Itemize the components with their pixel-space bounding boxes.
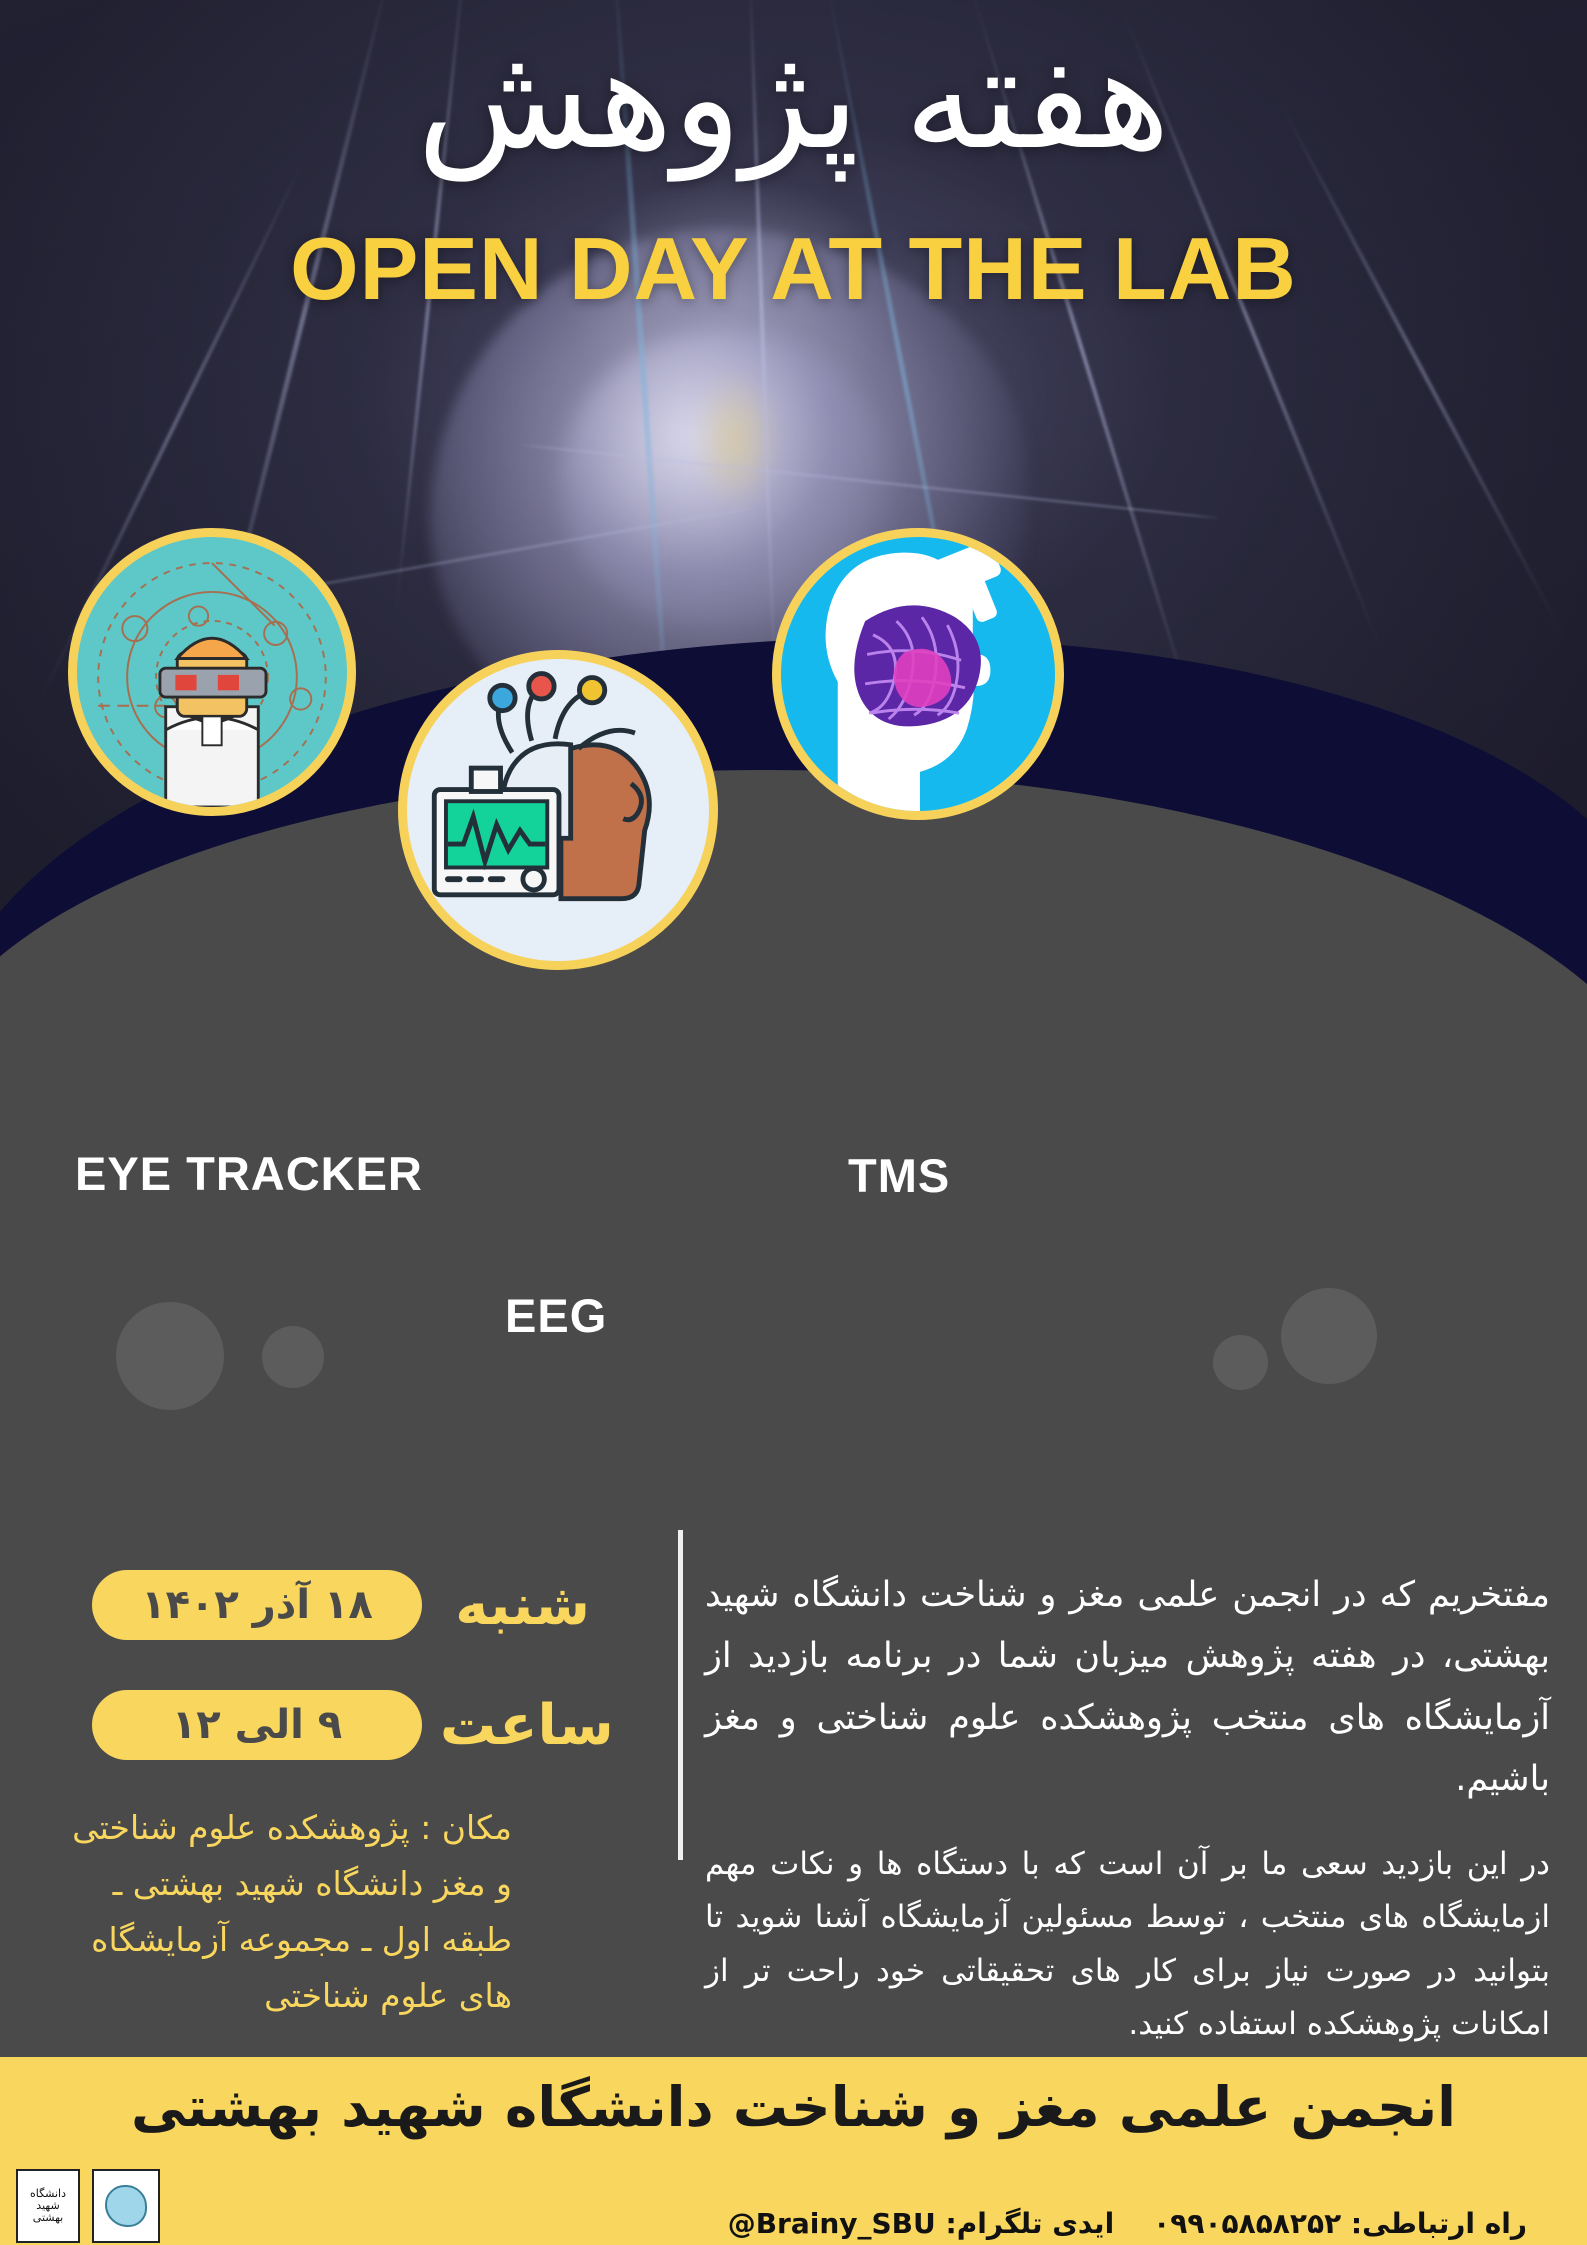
lab-circle-tms[interactable]	[772, 528, 1064, 820]
description-paragraph-2: در این بازدید سعی ما بر آن است که با دست…	[705, 1838, 1550, 2051]
location-text: مکان : پژوهشکده علوم شناختی و مغز دانشگا…	[60, 1800, 512, 2024]
date-row: شنبه ۱۸ آذر ۱۴۰۲	[92, 1570, 590, 1640]
brain-glyph-icon	[105, 2185, 147, 2227]
decorative-dot	[116, 1302, 224, 1410]
sbu-logo-text: دانشگاه شهید بهشتی	[30, 2188, 66, 2224]
decorative-dot	[1281, 1288, 1377, 1384]
lab-circle-eye-tracker[interactable]	[68, 528, 356, 816]
contact-line: راه ارتباطی: ۰۹۹۰۵۸۵۸۲۵۲ ایدی تلگرام: @B…	[728, 2207, 1527, 2240]
lab-label-eeg: EEG	[505, 1288, 607, 1343]
time-row: ساعت ۹ الی ۱۲	[92, 1690, 614, 1760]
decorative-dot	[262, 1326, 324, 1388]
telegram-label: ایدی تلگرام:	[946, 2207, 1115, 2240]
organization-name: انجمن علمی مغز و شناخت دانشگاه شهید بهشت…	[0, 2075, 1587, 2139]
sbu-logo: دانشگاه شهید بهشتی	[16, 2169, 80, 2243]
telegram-handle[interactable]: @Brainy_SBU	[728, 2207, 936, 2240]
footer-banner: انجمن علمی مغز و شناخت دانشگاه شهید بهشت…	[0, 2057, 1587, 2245]
time-pill: ۹ الی ۱۲	[92, 1690, 422, 1760]
day-label: شنبه	[440, 1573, 590, 1638]
description-paragraph-1: مفتخریم که در انجمن علمی مغز و شناخت دان…	[705, 1565, 1550, 1810]
decorative-dot	[1213, 1335, 1268, 1390]
eye-tracker-icon	[77, 537, 347, 807]
contact-label: راه ارتباطی:	[1351, 2207, 1527, 2240]
date-pill: ۱۸ آذر ۱۴۰۲	[92, 1570, 422, 1640]
tms-icon	[781, 537, 1055, 811]
lab-label-eye-tracker: EYE TRACKER	[75, 1146, 423, 1201]
lab-label-tms: TMS	[848, 1148, 950, 1203]
contact-phone: ۰۹۹۰۵۸۵۸۲۵۲	[1153, 2207, 1341, 2240]
page-title-fa: هفته پژوهش	[0, 24, 1587, 173]
page-title-en: OPEN DAY AT THE LAB	[0, 218, 1587, 320]
poster-root: هفته پژوهش OPEN DAY AT THE LAB	[0, 0, 1587, 2245]
time-label: ساعت	[440, 1693, 614, 1758]
vertical-divider	[678, 1530, 683, 1860]
lab-circle-eeg[interactable]	[398, 650, 718, 970]
eeg-icon	[407, 659, 709, 961]
brain-logo	[92, 2169, 160, 2243]
